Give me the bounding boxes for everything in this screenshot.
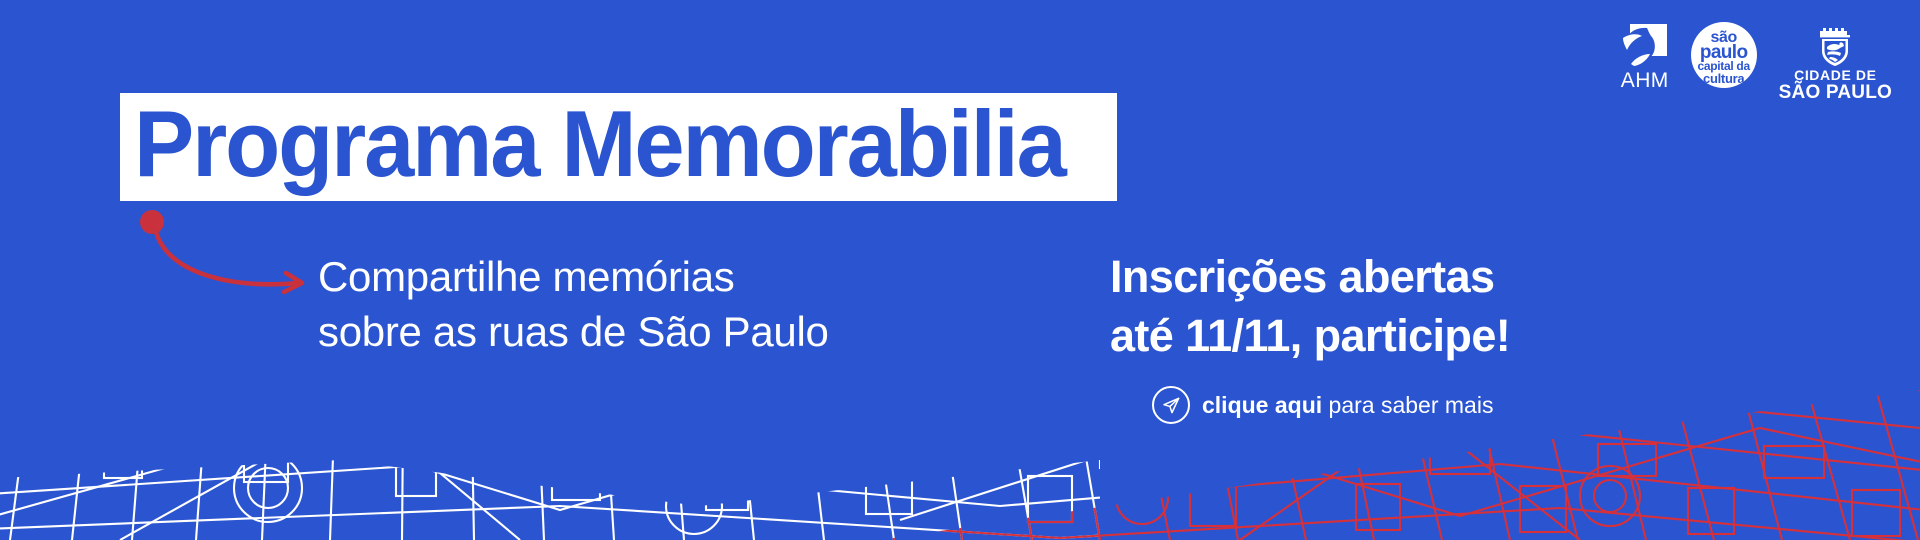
page-title: Programa Memorabilia: [120, 93, 1117, 201]
paper-plane-icon[interactable]: [1152, 386, 1190, 424]
sao-paulo-coat-of-arms-icon: [1814, 22, 1856, 66]
campaign-banner: Programa Memorabilia Compartilhe memória…: [0, 0, 1920, 540]
street-map-artwork: [0, 310, 1920, 540]
headline-line-2: até 11/11, participe!: [1110, 307, 1510, 366]
cidade-line-2: SÃO PAULO: [1779, 83, 1892, 103]
cta-text-strong: clique aqui: [1202, 392, 1322, 418]
curved-arrow-icon: [120, 195, 330, 305]
spcc-line-cultura: cultura: [1691, 72, 1757, 85]
map-art-red-region: [0, 310, 1920, 540]
page-title-text: Programa Memorabilia: [134, 97, 1065, 191]
headline: Inscrições abertas até 11/11, participe!: [1110, 248, 1510, 365]
map-art-white-region: [0, 310, 1920, 540]
cidade-line-1: CIDADE DE: [1794, 68, 1876, 83]
logo-sao-paulo-capital-cultura: são paulo capital da cultura: [1691, 22, 1757, 88]
headline-line-1: Inscrições abertas: [1110, 248, 1510, 307]
subtitle-line-1: Compartilhe memórias: [318, 250, 829, 305]
ahm-label: AHM: [1621, 70, 1669, 91]
logo-cidade-de-sao-paulo: CIDADE DE SÃO PAULO: [1779, 22, 1892, 103]
logo-group: AHM são paulo capital da cultura: [1621, 22, 1892, 103]
logo-ahm: AHM: [1621, 22, 1669, 91]
cta-text[interactable]: clique aqui para saber mais: [1202, 394, 1493, 417]
clique-aqui-cta[interactable]: clique aqui para saber mais: [1152, 386, 1493, 424]
sao-paulo-circle-logo-icon: são paulo capital da cultura: [1691, 22, 1757, 88]
subtitle: Compartilhe memórias sobre as ruas de Sã…: [318, 250, 829, 359]
ahm-square-mark-icon: [1623, 24, 1667, 66]
red-dot-marker: [140, 210, 164, 234]
subtitle-line-2: sobre as ruas de São Paulo: [318, 305, 829, 360]
cta-text-light: para saber mais: [1322, 392, 1493, 418]
